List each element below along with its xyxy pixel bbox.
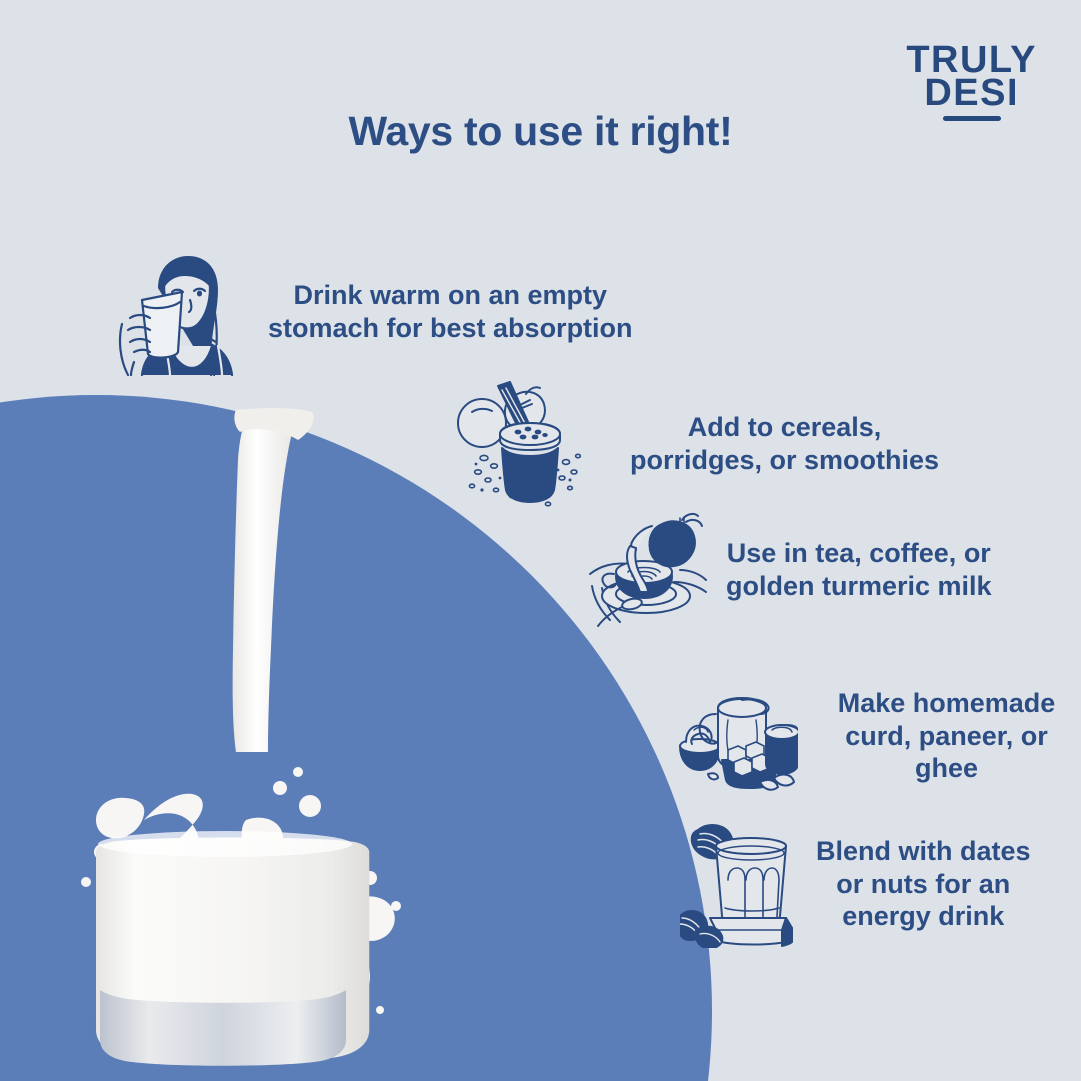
tip-label: Make homemade curd, paneer, or ghee <box>812 687 1081 786</box>
tip-item-add-to-cereals: Add to cereals, porridges, or smoothies <box>452 378 939 510</box>
tip-label: Add to cereals, porridges, or smoothies <box>630 411 939 477</box>
tip-label: Blend with dates or nuts for an energy d… <box>816 835 1031 934</box>
glass-rim <box>98 831 352 857</box>
tip-label: Use in tea, coffee, or golden turmeric m… <box>726 537 992 603</box>
milk-stream <box>233 410 302 752</box>
smoothie-jar-icon <box>452 378 592 510</box>
page-title: Ways to use it right! <box>0 108 1081 155</box>
tip-item-homemade-dairy: Make homemade curd, paneer, or ghee <box>678 680 1081 792</box>
infographic-poster: TRULY DESI Ways to use it right! <box>0 0 1081 1081</box>
tip-item-tea-coffee: Use in tea, coffee, or golden turmeric m… <box>588 512 992 628</box>
logo-line-2: DESI <box>906 77 1037 110</box>
teacup-pouring-icon <box>588 512 708 628</box>
jug-paneer-curd-icon <box>678 680 798 792</box>
woman-drinking-milk-icon <box>112 248 240 376</box>
tip-label: Drink warm on an empty stomach for best … <box>268 279 633 345</box>
tip-item-energy-drink: Blend with dates or nuts for an energy d… <box>680 820 1031 948</box>
glass-with-dates-icon <box>680 820 798 948</box>
tip-item-drink-warm: Drink warm on an empty stomach for best … <box>112 248 633 376</box>
milk-splash-glass-artwork <box>40 400 440 1081</box>
